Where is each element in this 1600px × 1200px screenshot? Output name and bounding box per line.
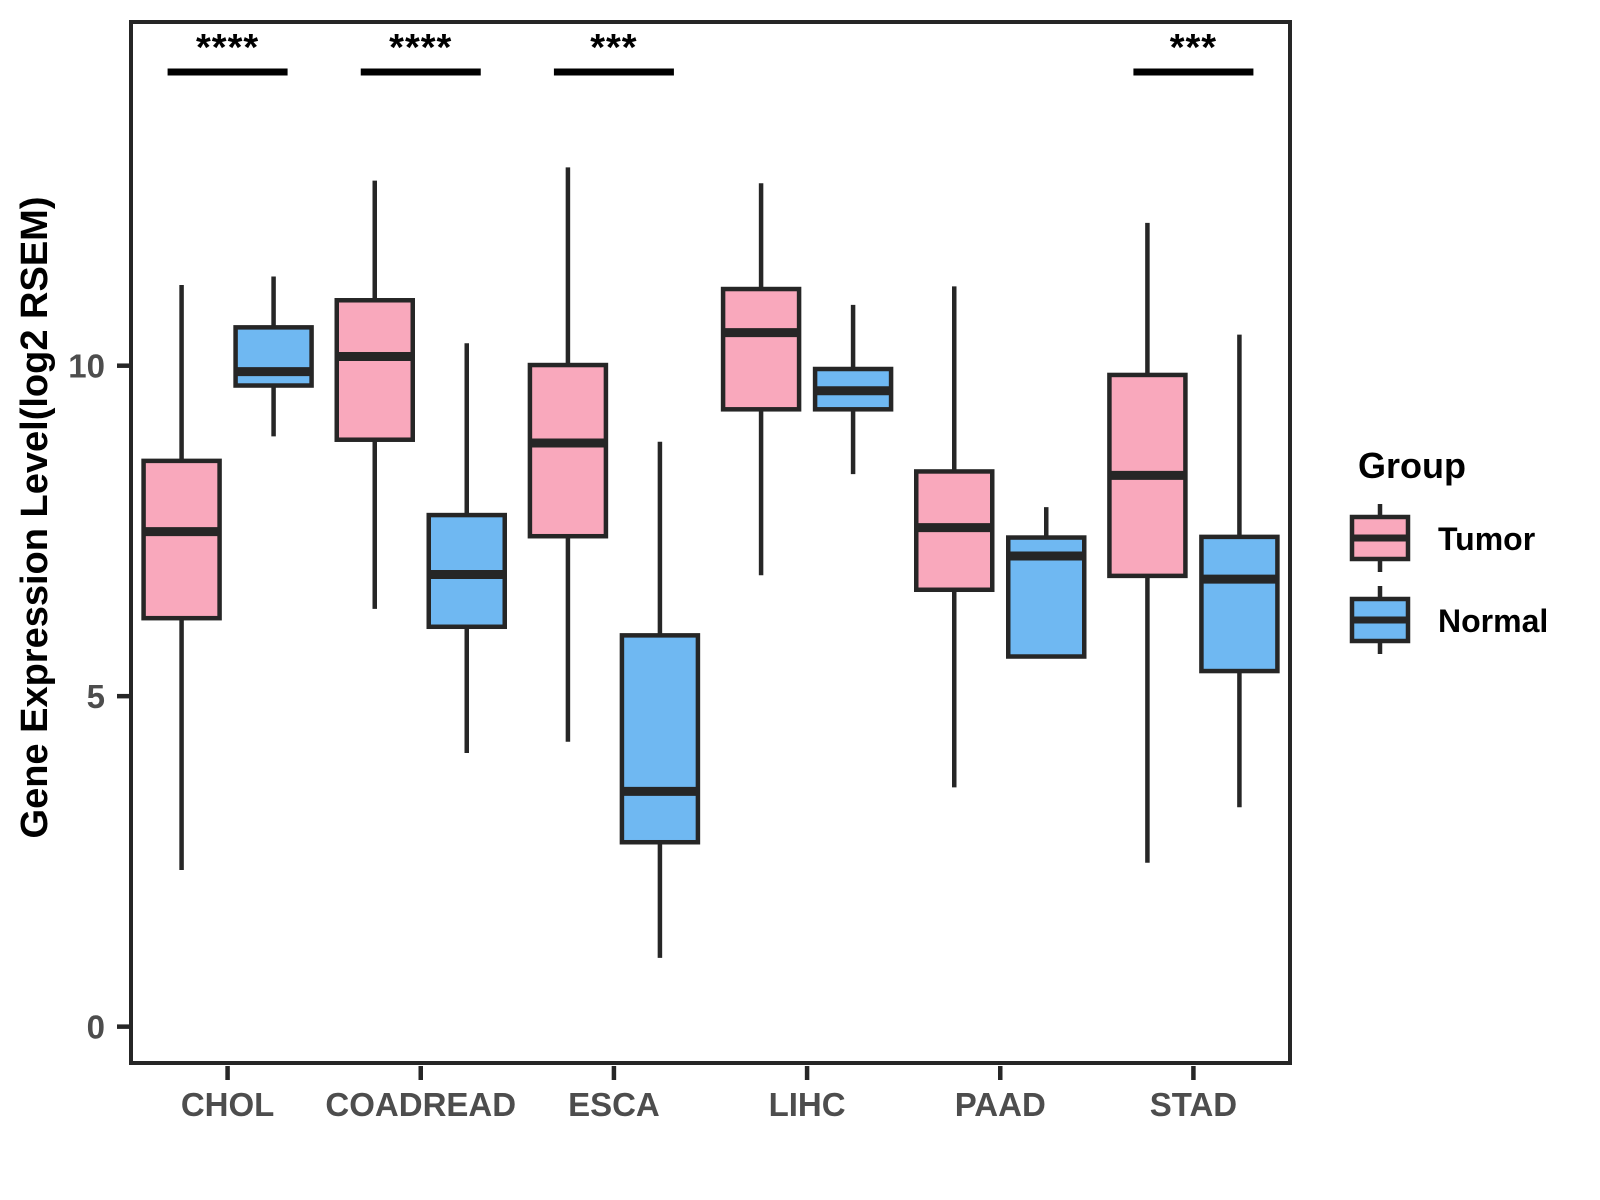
y-axis-tick-label: 5 — [87, 678, 105, 715]
x-axis-tick-label-paad: PAAD — [955, 1086, 1046, 1123]
box-iqr — [530, 365, 606, 536]
y-axis: 0510 — [68, 348, 129, 1046]
legend-entry-tumor[interactable]: Tumor — [1350, 504, 1535, 572]
legend-label-normal: Normal — [1438, 603, 1548, 639]
legend-label-tumor: Tumor — [1438, 521, 1535, 557]
significance-label-chol: **** — [196, 27, 259, 69]
x-axis-tick-label-stad: STAD — [1150, 1086, 1237, 1123]
y-axis-tick-label: 0 — [87, 1009, 105, 1046]
significance-label-esca: *** — [590, 27, 637, 69]
significance-label-stad: *** — [1170, 27, 1217, 69]
legend-entry-normal[interactable]: Normal — [1350, 586, 1548, 654]
box-iqr — [236, 327, 312, 385]
x-axis-tick-label-esca: ESCA — [568, 1086, 660, 1123]
legend: GroupTumorNormal — [1350, 445, 1548, 654]
x-axis: CHOLCOADREADESCALIHCPAADSTAD — [181, 1066, 1237, 1123]
box-iqr — [337, 300, 413, 439]
x-axis-tick-label-chol: CHOL — [181, 1086, 275, 1123]
boxplot-svg: 0510Gene Expression Level(log2 RSEM)CHOL… — [0, 0, 1600, 1200]
y-axis-tick-label: 10 — [68, 348, 105, 385]
x-axis-tick-label-lihc: LIHC — [769, 1086, 846, 1123]
box-iqr — [622, 635, 698, 842]
box-iqr — [144, 461, 220, 618]
x-axis-tick-label-coadread: COADREAD — [325, 1086, 516, 1123]
box-iqr — [723, 289, 799, 409]
boxplot-figure: 0510Gene Expression Level(log2 RSEM)CHOL… — [0, 0, 1600, 1200]
legend-title: Group — [1358, 445, 1466, 486]
significance-label-coadread: **** — [389, 27, 452, 69]
y-axis-title: Gene Expression Level(log2 RSEM) — [14, 197, 56, 839]
box-iqr — [1201, 537, 1277, 671]
